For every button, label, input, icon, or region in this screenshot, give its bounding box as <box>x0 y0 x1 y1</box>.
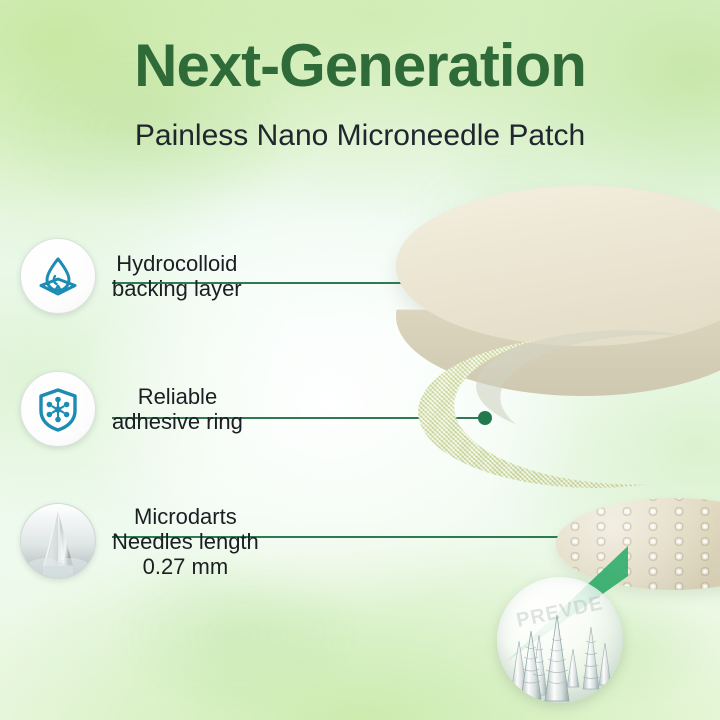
shield-molecule-icon <box>20 371 96 447</box>
microneedle-cone-icon <box>20 503 96 579</box>
feature-label-adhesive: Reliable adhesive ring <box>112 384 243 434</box>
feature-microdarts-needle-length[interactable]: Microdarts Needles length 0.27 mm <box>20 503 259 579</box>
feature-hydrocolloid-backing-layer[interactable]: Hydrocolloid backing layer <box>20 238 242 314</box>
water-droplet-icon <box>20 238 96 314</box>
feature-label-microdarts: Microdarts Needles length 0.27 mm <box>112 504 259 579</box>
microneedle-magnifier-bubble: PREVDE <box>497 577 623 703</box>
page-subtitle: Painless Nano Microneedle Patch <box>0 121 720 151</box>
microneedle-cones-illustration <box>497 577 623 703</box>
feature-reliable-adhesive-ring[interactable]: Reliable adhesive ring <box>20 371 243 447</box>
feature-label-hydrocolloid: Hydrocolloid backing layer <box>112 251 242 301</box>
page-title: Next-Generation <box>0 36 720 96</box>
infographic-canvas: Next-Generation Painless Nano Microneedl… <box>0 0 720 720</box>
